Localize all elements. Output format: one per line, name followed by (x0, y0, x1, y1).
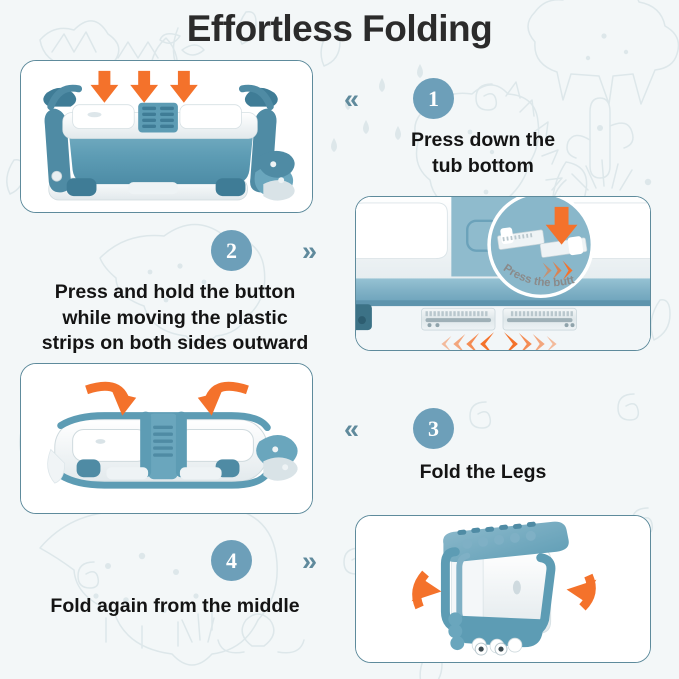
orange-down-arrows (91, 71, 198, 103)
step-3-line-1: Fold the Legs (342, 460, 624, 486)
step-2-badge: 2 (211, 230, 252, 271)
tub-fold-legs-photo (21, 364, 312, 514)
step-3-header: « 3 (340, 408, 670, 452)
step-1-line-1: Press down the (342, 128, 624, 154)
step-3-photo-panel (20, 363, 313, 514)
step-1-text: Press down the tub bottom (342, 128, 624, 179)
page-title: Effortless Folding (0, 8, 679, 50)
chevron-right-icon: » (302, 544, 314, 578)
step-4-caption: 4 » Fold again from the middle (10, 540, 340, 620)
chevron-left-icon: « (344, 82, 356, 116)
step-4-line-1: Fold again from the middle (10, 594, 340, 620)
step-2-line-2: while moving the plastic (10, 306, 340, 332)
tub-fold-middle-photo (356, 516, 650, 663)
step-3-badge: 3 (413, 408, 454, 449)
step-2-photo-panel: Press the button (355, 196, 651, 351)
tub-button-detail-photo: Press the button (356, 197, 650, 351)
step-1-header: « 1 (340, 78, 670, 122)
step-4-photo-panel (355, 515, 651, 663)
step-1-photo-panel (20, 60, 313, 213)
tub-press-down-photo (21, 61, 312, 213)
step-4-header: 4 » (10, 540, 340, 584)
chevron-right-icon: » (302, 234, 314, 268)
infographic-page: Effortless Folding (0, 0, 679, 679)
step-2-header: 2 » (10, 230, 340, 274)
step-3-text: Fold the Legs (342, 460, 624, 486)
step-4-badge: 4 (211, 540, 252, 581)
chevron-left-icon: « (344, 412, 356, 446)
step-1-caption: « 1 Press down the tub bottom (340, 78, 670, 179)
step-2-caption: 2 » Press and hold the button while movi… (10, 230, 340, 357)
step-3-caption: « 3 Fold the Legs (340, 408, 670, 486)
step-1-badge: 1 (413, 78, 454, 119)
step-1-line-2: tub bottom (342, 154, 624, 180)
step-2-text: Press and hold the button while moving t… (10, 280, 340, 357)
step-2-line-3: strips on both sides outward (10, 331, 340, 357)
step-2-line-1: Press and hold the button (10, 280, 340, 306)
step-4-text: Fold again from the middle (10, 594, 340, 620)
